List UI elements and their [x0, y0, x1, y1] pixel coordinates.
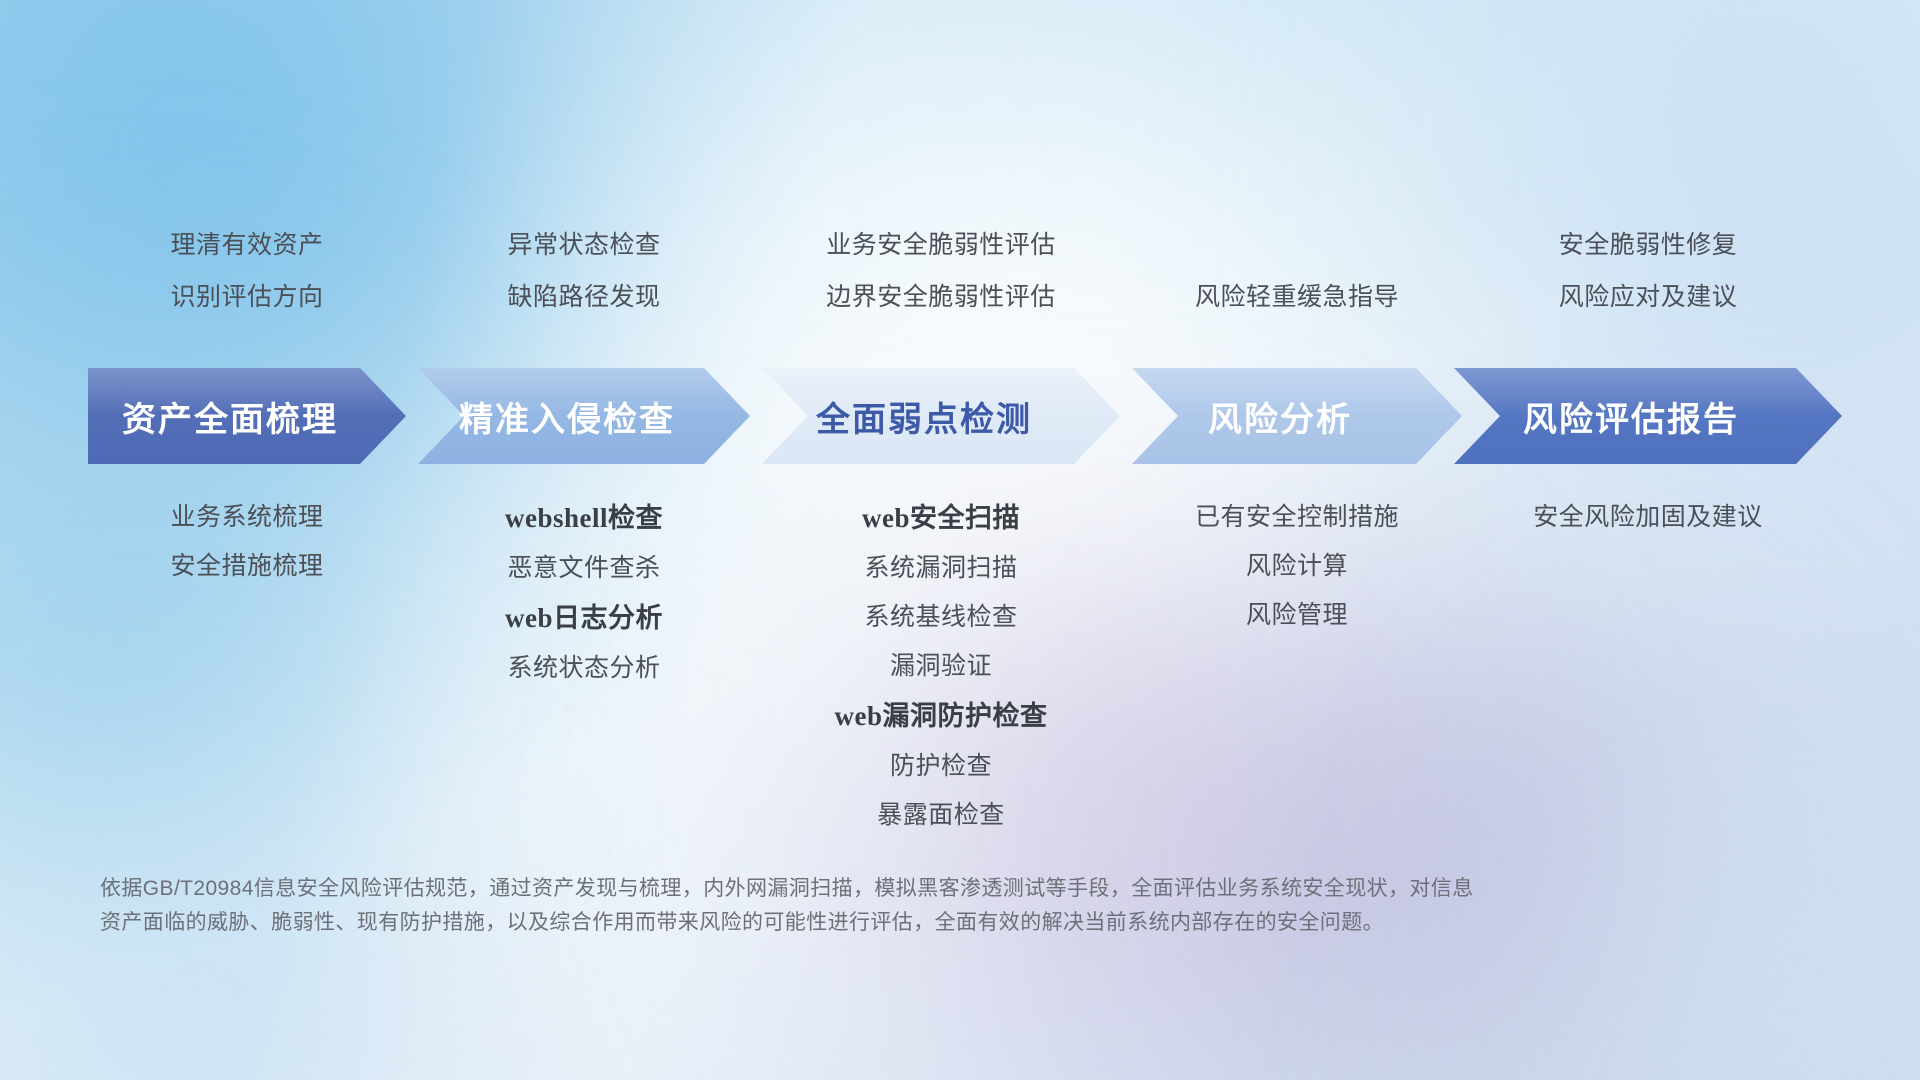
stage-title-asset-inventory: 资产全面梳理 — [122, 392, 372, 441]
bottom-items-risk-assessment-report: 安全风险加固及建议 — [1454, 505, 1842, 530]
stage-title-risk-assessment-report: 风险评估报告 — [1523, 392, 1773, 441]
bottom-item: webshell检查 — [505, 505, 663, 532]
stage-title-precision-intrusion-check: 精准入侵检查 — [459, 392, 709, 441]
bottom-items-asset-inventory: 业务系统梳理安全措施梳理 — [88, 505, 406, 579]
bottom-item: web日志分析 — [505, 605, 663, 632]
footer-description: 依据GB/T20984信息安全风险评估规范，通过资产发现与梳理，内外网漏洞扫描，… — [100, 872, 1740, 940]
bottom-item: 风险管理 — [1246, 603, 1348, 628]
top-note-item: 缺陷路径发现 — [507, 285, 660, 310]
top-note-item: 风险应对及建议 — [1559, 285, 1738, 310]
bottom-item: 系统漏洞扫描 — [864, 556, 1017, 581]
bottom-item: 系统状态分析 — [507, 656, 660, 681]
bottom-item: 安全风险加固及建议 — [1533, 505, 1763, 530]
bottom-item: 业务系统梳理 — [170, 505, 323, 530]
top-note-item: 异常状态检查 — [507, 233, 660, 258]
process-stage-risk-assessment-report[interactable]: 风险评估报告 — [1454, 368, 1842, 464]
process-stage-precision-intrusion-check[interactable]: 精准入侵检查 — [418, 368, 750, 464]
stage-title-risk-analysis: 风险分析 — [1208, 392, 1386, 441]
top-note-item: 业务安全脆弱性评估 — [826, 233, 1056, 258]
process-chevron-band: 资产全面梳理精准入侵检查全面弱点检测风险分析风险评估报告 — [88, 368, 1842, 464]
process-stage-full-weakness-detection[interactable]: 全面弱点检测 — [762, 368, 1120, 464]
bottom-item: 防护检查 — [890, 754, 992, 779]
bottom-item: 风险计算 — [1246, 554, 1348, 579]
bottom-item: web安全扫描 — [862, 505, 1020, 532]
top-note-item: 理清有效资产 — [170, 233, 323, 258]
bottom-item: 漏洞验证 — [890, 654, 992, 679]
process-diagram: 理清有效资产识别评估方向异常状态检查缺陷路径发现业务安全脆弱性评估边界安全脆弱性… — [0, 0, 1920, 1080]
top-notes-precision-intrusion-check: 异常状态检查缺陷路径发现 — [418, 233, 750, 310]
bottom-item: 安全措施梳理 — [170, 554, 323, 579]
top-note-item: 安全脆弱性修复 — [1559, 233, 1738, 258]
bottom-item: 已有安全控制措施 — [1195, 505, 1399, 530]
stage-title-full-weakness-detection: 全面弱点检测 — [816, 392, 1066, 441]
top-note-item: 识别评估方向 — [170, 285, 323, 310]
top-notes-risk-assessment-report: 安全脆弱性修复风险应对及建议 — [1454, 233, 1842, 310]
bottom-item: 系统基线检查 — [864, 605, 1017, 630]
process-stage-asset-inventory[interactable]: 资产全面梳理 — [88, 368, 406, 464]
bottom-item: 恶意文件查杀 — [507, 556, 660, 581]
top-note-item: 边界安全脆弱性评估 — [826, 285, 1056, 310]
bottom-items-full-weakness-detection: web安全扫描系统漏洞扫描系统基线检查漏洞验证web漏洞防护检查防护检查暴露面检… — [762, 505, 1120, 828]
bottom-items-risk-analysis: 已有安全控制措施风险计算风险管理 — [1132, 505, 1462, 628]
top-note-item: 风险轻重缓急指导 — [1195, 285, 1399, 310]
footer-line-2: 资产面临的威胁、脆弱性、现有防护措施，以及综合作用而带来风险的可能性进行评估，全… — [100, 906, 1740, 940]
bottom-item: 暴露面检查 — [877, 803, 1005, 828]
footer-line-1: 依据GB/T20984信息安全风险评估规范，通过资产发现与梳理，内外网漏洞扫描，… — [100, 872, 1740, 906]
bottom-item: web漏洞防护检查 — [835, 703, 1048, 730]
bottom-items-precision-intrusion-check: webshell检查恶意文件查杀web日志分析系统状态分析 — [418, 505, 750, 681]
top-notes-asset-inventory: 理清有效资产识别评估方向 — [88, 233, 406, 310]
process-stage-risk-analysis[interactable]: 风险分析 — [1132, 368, 1462, 464]
top-notes-risk-analysis: 风险轻重缓急指导 — [1132, 285, 1462, 310]
top-notes-full-weakness-detection: 业务安全脆弱性评估边界安全脆弱性评估 — [762, 233, 1120, 310]
